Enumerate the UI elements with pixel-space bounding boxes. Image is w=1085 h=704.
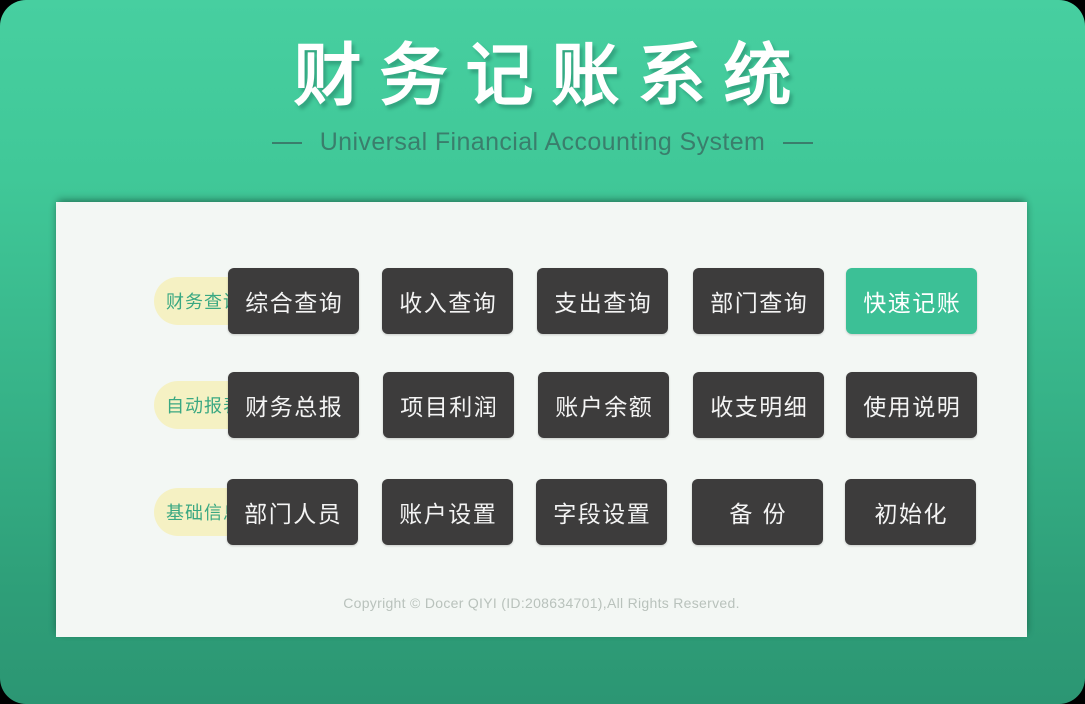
menu-button-1-2[interactable]: 账户余额 (538, 372, 669, 438)
app-header: 财务记账系统 Universal Financial Accounting Sy… (0, 0, 1085, 200)
menu-button-1-0[interactable]: 财务总报 (228, 372, 359, 438)
menu-row-basic-info: 基础信息 部门人员 账户设置 字段设置 备 份 初始化 (56, 479, 1027, 545)
menu-button-1-3[interactable]: 收支明细 (693, 372, 824, 438)
menu-panel: 财务查询 综合查询 收入查询 支出查询 部门查询 快速记账 自动报表 财务总报 … (56, 202, 1027, 637)
menu-button-2-2[interactable]: 字段设置 (536, 479, 667, 545)
page-title: 财务记账系统 (0, 38, 1085, 116)
menu-panel-inner: 财务查询 综合查询 收入查询 支出查询 部门查询 快速记账 自动报表 财务总报 … (56, 202, 1027, 637)
menu-button-0-3[interactable]: 部门查询 (693, 268, 824, 334)
menu-button-2-4[interactable]: 初始化 (845, 479, 976, 545)
menu-button-2-0[interactable]: 部门人员 (227, 479, 358, 545)
copyright-footer: Copyright © Docer QIYI (ID:208634701),Al… (56, 595, 1027, 611)
page-subtitle: Universal Financial Accounting System (320, 128, 766, 157)
menu-button-0-1[interactable]: 收入查询 (382, 268, 513, 334)
application-window: 财务记账系统 Universal Financial Accounting Sy… (0, 0, 1085, 704)
dash-right-icon (783, 142, 813, 144)
menu-button-2-1[interactable]: 账户设置 (382, 479, 513, 545)
menu-button-0-0[interactable]: 综合查询 (228, 268, 359, 334)
menu-button-2-3[interactable]: 备 份 (692, 479, 823, 545)
dash-left-icon (272, 142, 302, 144)
menu-button-1-4[interactable]: 使用说明 (846, 372, 977, 438)
menu-row-auto-report: 自动报表 财务总报 项目利润 账户余额 收支明细 使用说明 (56, 372, 1027, 438)
menu-button-0-4[interactable]: 快速记账 (846, 268, 977, 334)
menu-button-1-1[interactable]: 项目利润 (383, 372, 514, 438)
subtitle-row: Universal Financial Accounting System (0, 128, 1085, 157)
menu-button-0-2[interactable]: 支出查询 (537, 268, 668, 334)
menu-row-financial-query: 财务查询 综合查询 收入查询 支出查询 部门查询 快速记账 (56, 268, 1027, 334)
